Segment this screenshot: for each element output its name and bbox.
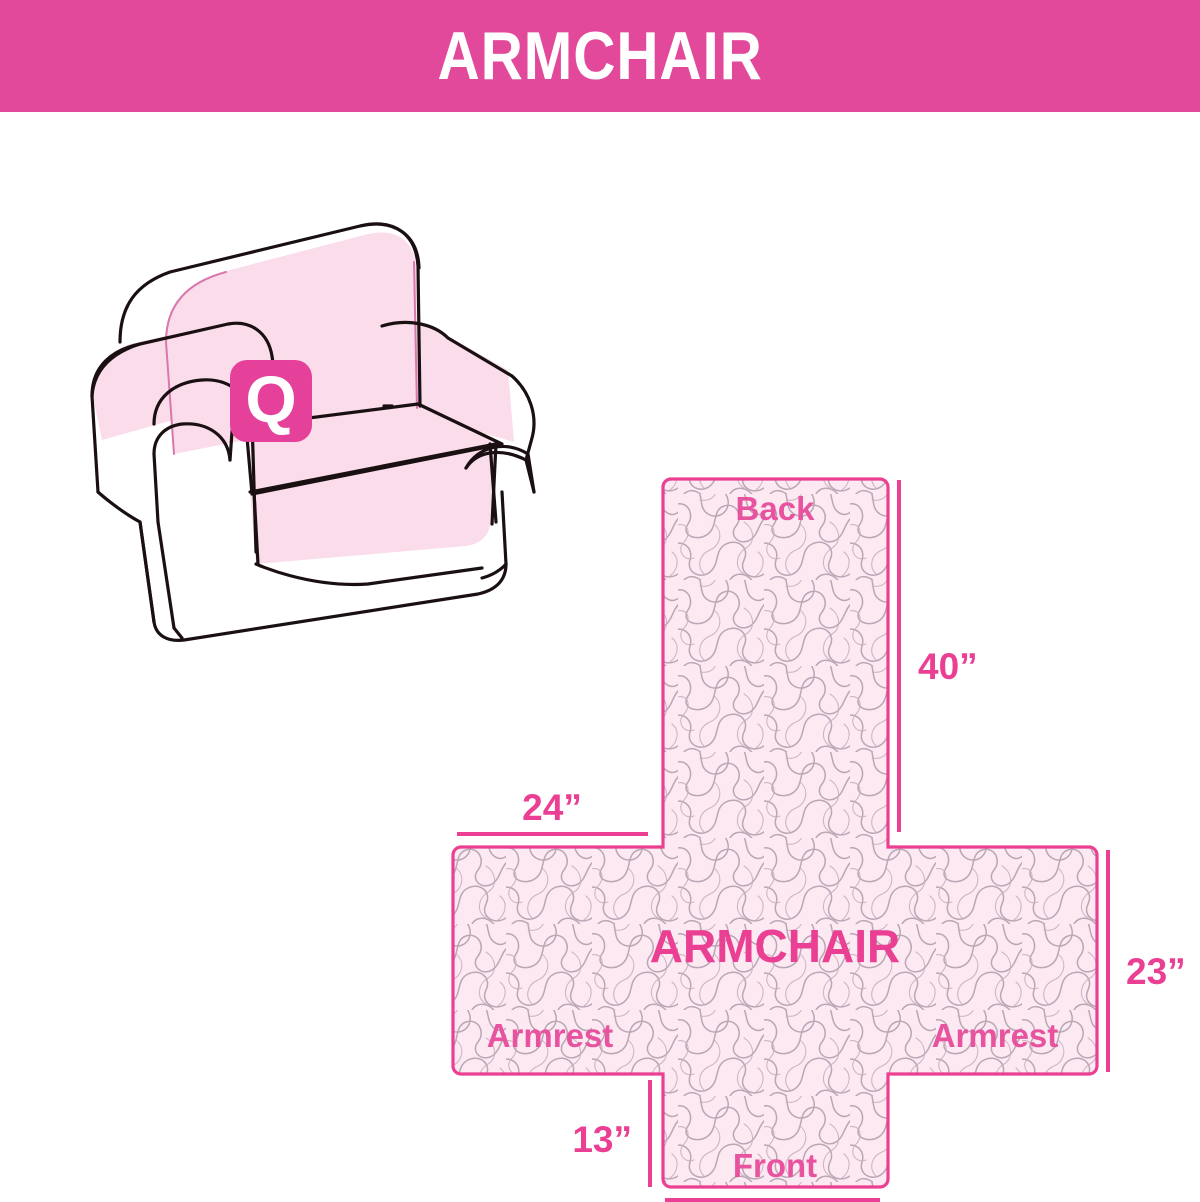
logo-badge: Q (230, 360, 312, 442)
page-title: ARMCHAIR (437, 22, 762, 90)
dimension-label-front-height: 13” (572, 1119, 632, 1160)
diagram-stage: Q (0, 112, 1200, 1200)
slipcover-layout-diagram: 40” 24” 23” 13” 24” Back Armrest Armrest… (420, 322, 1200, 1202)
dimension-label-armrest-height: 23” (1126, 951, 1186, 992)
page-header-banner: ARMCHAIR (0, 0, 1200, 112)
logo-letter: Q (245, 362, 296, 436)
panel-label-back: Back (736, 490, 816, 527)
diagram-center-label: ARMCHAIR (650, 920, 900, 972)
dimension-label-back-width: 24” (522, 787, 582, 828)
panel-label-armrest-left: Armrest (487, 1017, 614, 1054)
panel-label-front: Front (733, 1147, 817, 1184)
dimension-label-back-height: 40” (918, 646, 978, 687)
panel-label-armrest-right: Armrest (932, 1017, 1059, 1054)
